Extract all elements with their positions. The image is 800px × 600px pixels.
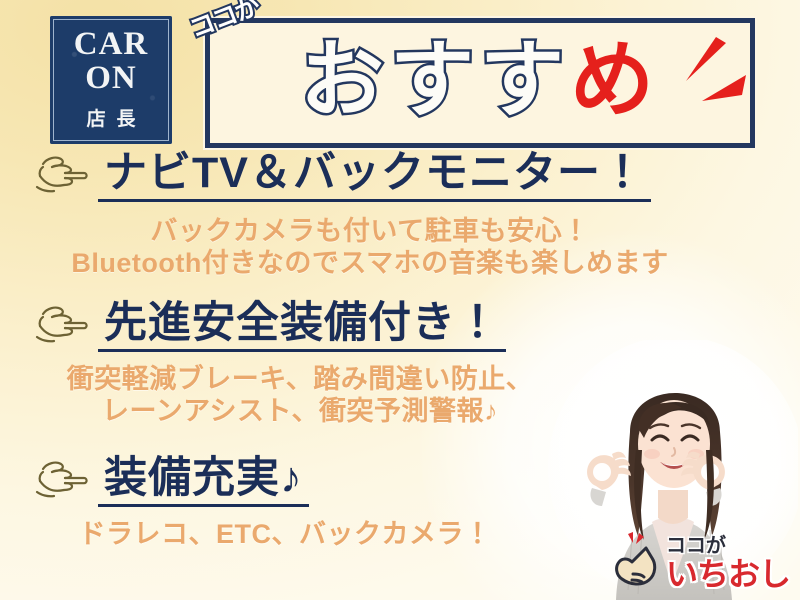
stamp-line-on: ON [85,63,137,95]
feature-row-1: ナビTV＆バックモニター！ バックカメラも付いて駐車も安心！ Bluetooth… [0,150,800,280]
feature-1-title: ナビTV＆バックモニター！ [98,150,651,202]
pointing-hand-icon [34,152,92,200]
headline-text: おすすめ [300,38,660,122]
ichioshi-badge: ココが いちおし [608,532,790,594]
stamp-line-car: CAR [74,29,149,61]
feature-1-subtext: バックカメラも付いて駐車も安心！ Bluetooth付きなのでスマホの音楽も楽し… [0,216,800,280]
headline-white-part: おすす [300,33,570,127]
feature-2-subline-2: レーンアシスト、衝突予測警報♪ [0,396,600,428]
feature-1-head: ナビTV＆バックモニター！ [0,150,800,202]
car-on-stamp-logo: CAR ON 店長 [50,16,172,144]
pointing-up-hand-icon [608,532,664,594]
pointing-hand-icon [34,457,92,505]
badge-line-kokoga: ココが [666,536,790,556]
red-spark-icon-2 [702,75,746,105]
pointing-hand-icon [34,302,92,350]
feature-1-subline-2: Bluetooth付きなのでスマホの音楽も楽しめます [0,248,740,280]
feature-2-title: 先進安全装備付き！ [98,300,506,352]
stamp-line-tencho: 店長 [75,104,146,131]
feature-3-subline-1: ドラレコ、ETC、バックカメラ！ [0,519,570,551]
feature-1-subline-1: バックカメラも付いて駐車も安心！ [0,216,740,248]
headline-red-part: め [570,33,660,127]
promo-poster: CAR ON 店長 ココが おすすめ [0,0,800,600]
feature-3-title: 装備充実♪ [98,455,309,507]
badge-line-ichioshi: いちおし [666,558,790,590]
feature-2-subline-1: 衝突軽減ブレーキ、踏み間違い防止、 [0,364,600,396]
headline-box: おすすめ [205,18,755,148]
badge-text-group: ココが いちおし [666,536,790,590]
